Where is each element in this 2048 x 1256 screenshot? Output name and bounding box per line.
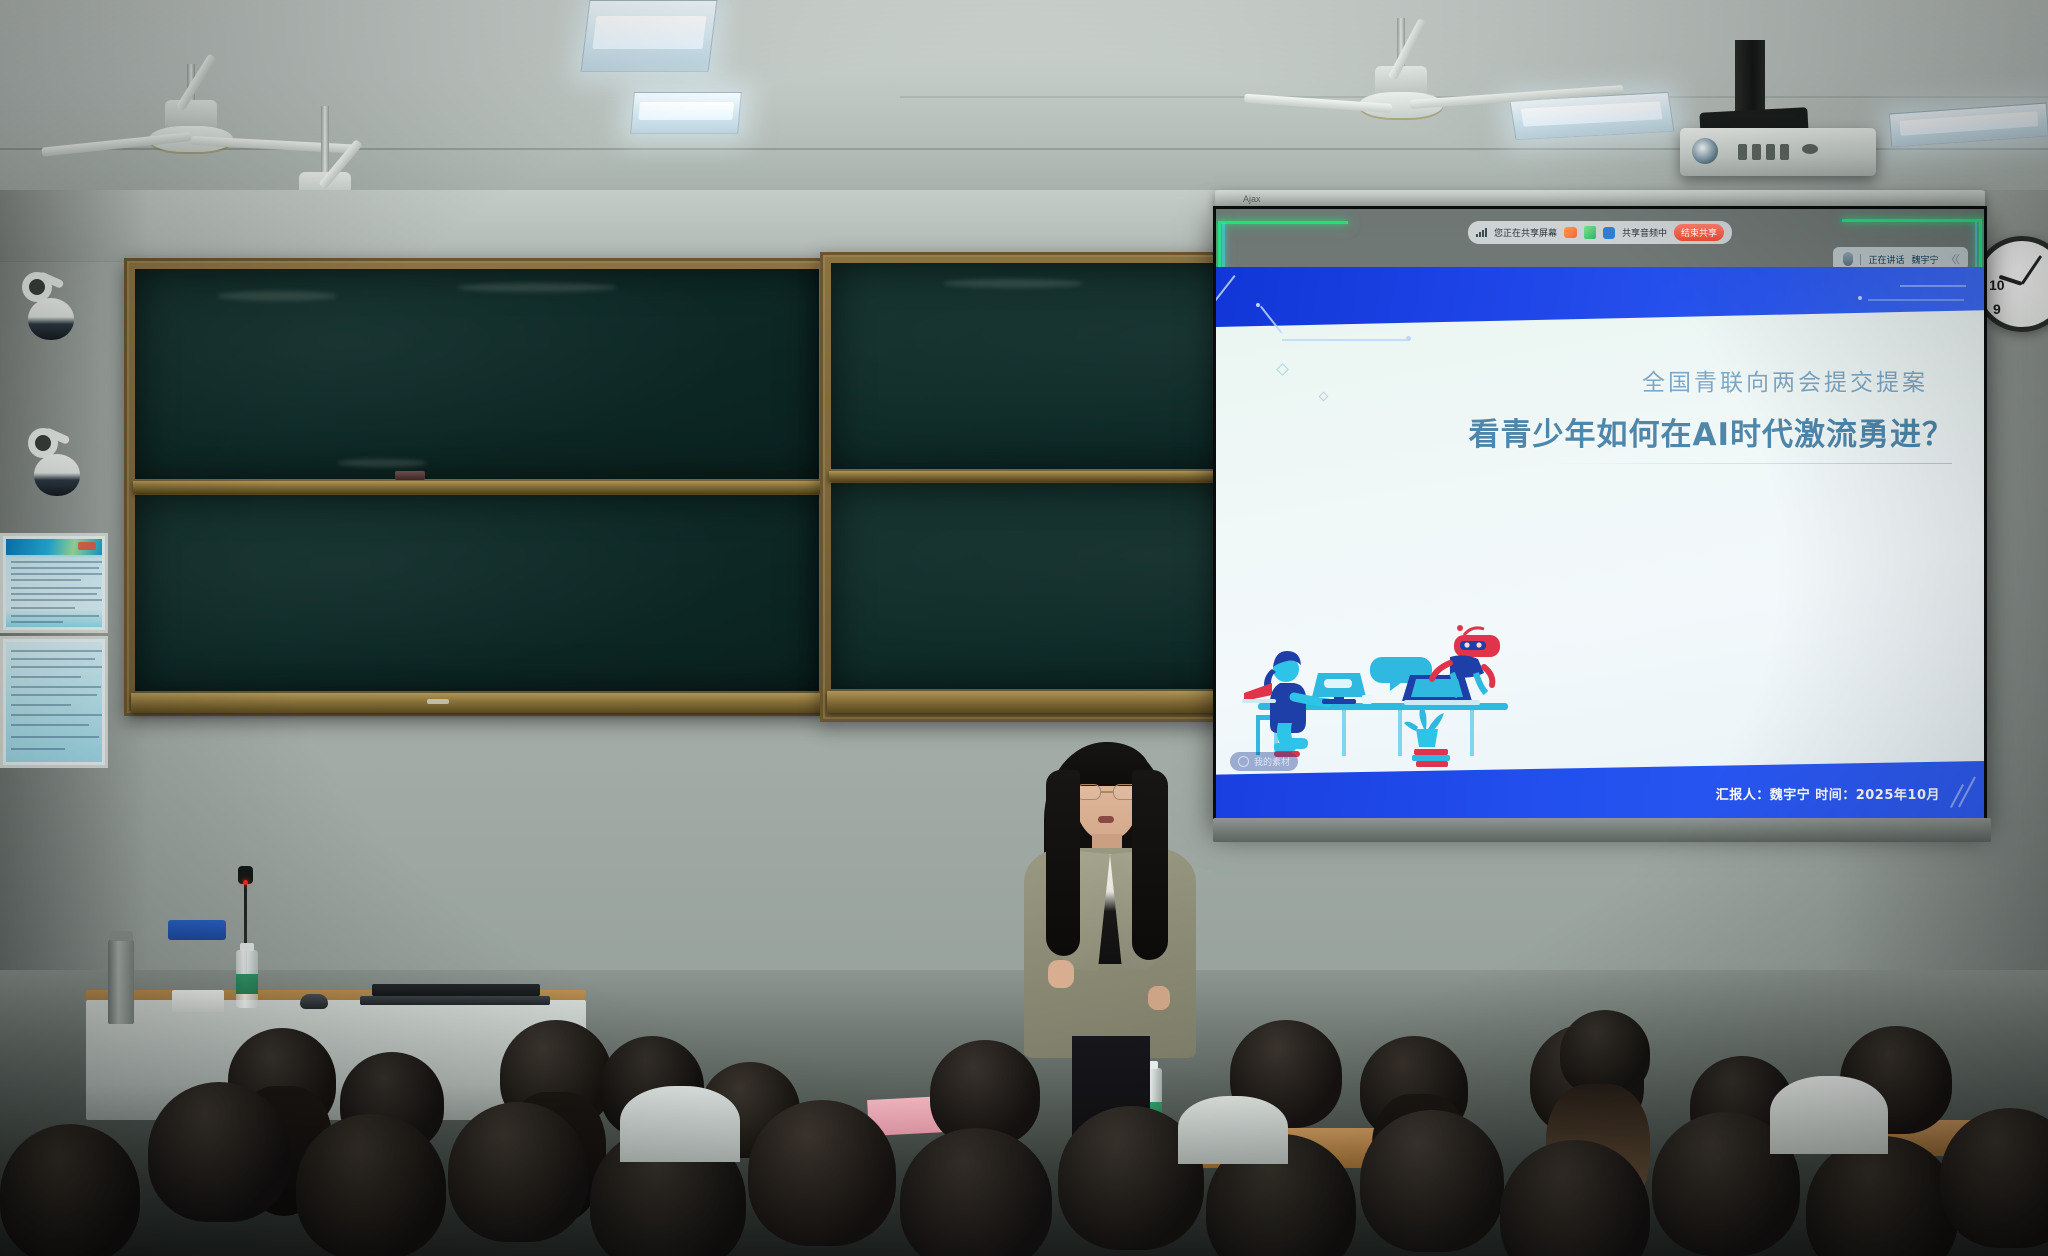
ceiling-fan — [1260, 18, 1730, 148]
speaker-icon[interactable] — [1603, 227, 1615, 239]
decorative-diamond — [1319, 392, 1329, 402]
decorative-dot — [1256, 303, 1260, 307]
presenter — [1020, 736, 1200, 1156]
decorative-diamond — [1276, 363, 1289, 376]
computer-mouse[interactable] — [300, 994, 328, 1009]
decorative-line — [1868, 299, 1964, 301]
chalk-box — [172, 990, 224, 1012]
presenter-hand — [1148, 986, 1170, 1010]
minute-hand — [2021, 255, 2042, 285]
person-at-desk-with-robot-illustration — [1238, 611, 1538, 771]
presenter-mouth — [1098, 816, 1114, 823]
presenter-glasses — [1076, 784, 1138, 800]
ceiling-projector — [1680, 128, 1876, 176]
screen-edge-glow — [1218, 221, 1348, 224]
share-audio-label: 共享音频中 — [1622, 226, 1667, 239]
audience-head — [296, 1114, 446, 1256]
smiley-icon — [1238, 756, 1249, 767]
decorative-dot — [1406, 336, 1411, 341]
wall-notice-poster — [0, 636, 108, 768]
title-underline — [1552, 463, 1952, 464]
screen-edge-glow — [1842, 219, 1982, 222]
audience-shoulders — [1178, 1096, 1288, 1164]
slide-top-band — [1216, 267, 1984, 327]
microphone-led — [243, 880, 248, 885]
projection-screen-weight-bar — [1213, 818, 1991, 842]
audience-shoulders — [620, 1086, 740, 1162]
slide-illustration — [1238, 611, 1538, 771]
presenter-hair-strand — [1132, 770, 1168, 960]
fluorescent-light — [581, 0, 718, 72]
screen-share-toolbar[interactable]: 您正在共享屏幕 共享音频中 结束共享 — [1468, 221, 1732, 244]
microphone-icon — [1843, 252, 1853, 266]
decorative-line — [1282, 339, 1408, 341]
slide-footer-text: 汇报人：魏宇宁 时间：2025年10月 — [1716, 784, 1940, 803]
slide-surface[interactable]: 您正在共享屏幕 共享音频中 结束共享 正在讲话 魏宇宁 〈〈 — [1216, 209, 1984, 823]
water-bottle — [236, 950, 258, 1008]
watermark-label: 我的素材 — [1254, 755, 1290, 768]
slide-subtitle: 全国青联向两会提交提案 — [1642, 363, 1928, 397]
slide-watermark: 我的素材 — [1230, 752, 1298, 771]
green-chalkboard — [124, 258, 824, 716]
audience-head — [448, 1102, 588, 1242]
share-status-label: 您正在共享屏幕 — [1494, 226, 1557, 239]
slide-canvas: 全国青联向两会提交提案 看青少年如何在AI时代激流勇进？ — [1216, 267, 1984, 823]
stop-share-button[interactable]: 结束共享 — [1674, 224, 1724, 241]
projection-screen[interactable]: 您正在共享屏幕 共享音频中 结束共享 正在讲话 魏宇宁 〈〈 — [1213, 206, 1987, 826]
decorative-line — [1900, 285, 1966, 287]
audience-shoulders — [1770, 1076, 1888, 1154]
screen-brand-tag: Ajax — [1243, 194, 1261, 204]
document-icon[interactable] — [1584, 226, 1596, 239]
audience-head — [748, 1100, 896, 1246]
projector-lens — [1692, 138, 1718, 164]
signal-bars-icon — [1476, 228, 1487, 237]
fluorescent-light — [630, 92, 742, 134]
classroom-photo: 10 9 Ajax — [0, 0, 2048, 1256]
blue-box — [168, 920, 226, 940]
speaking-status-label: 正在讲话 — [1868, 253, 1904, 266]
presenter-hand — [1048, 960, 1074, 988]
thermos-flask — [108, 938, 134, 1024]
audience-head — [1360, 1110, 1504, 1252]
audience-head — [0, 1124, 140, 1256]
audience-head — [148, 1082, 290, 1222]
speaking-speaker-name: 魏宇宁 — [1911, 253, 1938, 266]
laptop-base[interactable] — [360, 996, 550, 1005]
laptop[interactable] — [372, 984, 540, 996]
sound-wave-icon: 〈〈 — [1946, 251, 1959, 267]
clock-numeral: 9 — [1993, 301, 2001, 317]
wall-notice-poster — [0, 533, 108, 633]
cloud-icon[interactable] — [1564, 227, 1577, 238]
presenter-hair-strand — [1046, 770, 1080, 956]
slide-title: 看青少年如何在AI时代激流勇进？ — [1468, 409, 1954, 454]
decorative-dot — [1858, 296, 1862, 300]
